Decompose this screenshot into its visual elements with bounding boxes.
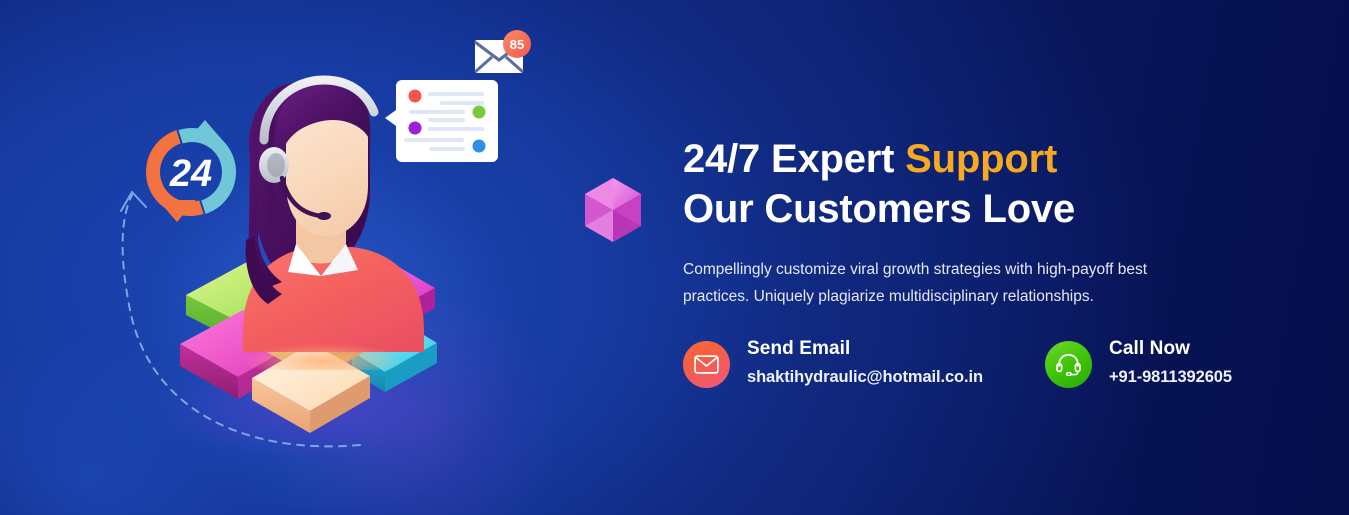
banner-description: Compellingly customize viral growth stra… [683,256,1188,310]
chat-dot-red [409,90,422,103]
mail-count-label: 85 [510,37,524,52]
support-24-badge: 24 [135,117,248,228]
chat-dot-purple [409,122,422,135]
chat-dot-blue [473,140,486,153]
chat-card [385,80,498,162]
contact-list: Send Email shaktihydraulic@hotmail.co.in… [683,337,1283,388]
contact-email-value: shaktihydraulic@hotmail.co.in [747,366,983,388]
envelope-icon [683,341,730,388]
contact-phone-text: Call Now +91-9811392605 [1109,337,1232,388]
contact-email-text: Send Email shaktihydraulic@hotmail.co.in [747,337,983,388]
contact-email[interactable]: Send Email shaktihydraulic@hotmail.co.in [683,337,983,388]
contact-phone[interactable]: Call Now +91-9811392605 [1045,337,1232,388]
mail-notification: 85 [475,30,531,73]
gem-icon [585,178,641,242]
contact-phone-value: +91-9811392605 [1109,366,1232,388]
banner-content: 24/7 Expert Support Our Customers Love C… [683,134,1283,388]
headset-icon [1045,341,1092,388]
support-illustration: 24 8 [0,0,660,515]
headline-line2: Our Customers Love [683,187,1075,231]
contact-email-title: Send Email [747,337,983,361]
support-banner: 24 8 [0,0,1349,515]
support-24-label: 24 [169,153,212,195]
contact-phone-title: Call Now [1109,337,1232,361]
page-title: 24/7 Expert Support Our Customers Love [683,134,1283,234]
headline-accent: Support [905,137,1057,181]
chat-dot-green [473,106,486,119]
headline-line1-plain: 24/7 Expert [683,137,905,181]
